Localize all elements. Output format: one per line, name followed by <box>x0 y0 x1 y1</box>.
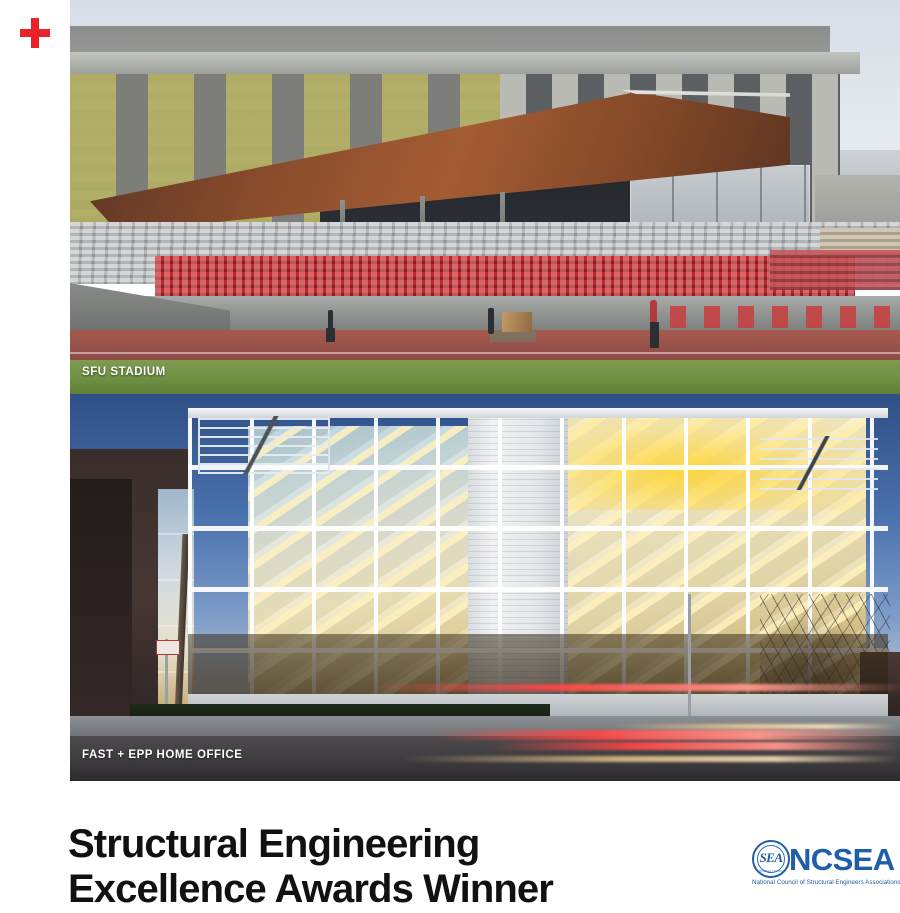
sports-field <box>70 360 900 394</box>
red-stadium-seats-right <box>770 250 900 290</box>
ncsea-logo-row: SEA NATIONAL COUNCIL NCSEA <box>752 840 888 878</box>
ncsea-seal-subtext: NATIONAL COUNCIL <box>754 870 788 873</box>
photo-sfu-stadium: SFU STADIUM <box>70 0 900 394</box>
street-lamp-post <box>688 594 691 719</box>
page-title-line-1: Structural Engineering <box>68 822 708 868</box>
running-track <box>70 330 900 362</box>
page-title: Structural Engineering Excellence Awards… <box>68 822 708 913</box>
runner-legs <box>326 328 335 342</box>
adjacent-brick-building-foreground <box>70 479 132 739</box>
car-light-trail-warm <box>400 756 900 762</box>
plus-icon-vertical-bar <box>31 18 39 48</box>
track-hurdles <box>670 306 900 328</box>
ncsea-logo: SEA NATIONAL COUNCIL NCSEA National Coun… <box>752 840 888 888</box>
ncsea-seal-monogram: SEA <box>754 850 788 866</box>
car-light-trail <box>490 742 900 750</box>
runner-figure-red-shirt <box>650 300 657 324</box>
worker-figure <box>488 308 494 334</box>
rooftop-railing-right <box>760 436 878 490</box>
ncsea-wordmark: NCSEA <box>789 844 895 875</box>
runner-legs-red-shirt <box>650 322 659 348</box>
cart-load <box>502 312 532 332</box>
ncsea-seal-icon: SEA NATIONAL COUNCIL <box>752 840 790 878</box>
page-title-line-2: Excellence Awards Winner <box>68 867 708 913</box>
ncsea-tagline: National Council of Structural Engineers… <box>752 879 888 886</box>
photo-caption-fast-epp-home-office: FAST + EPP HOME OFFICE <box>82 749 242 761</box>
roof-parapet <box>70 52 860 74</box>
car-light-trail <box>430 730 900 740</box>
photo-caption-sfu-stadium: SFU STADIUM <box>82 366 166 378</box>
photo-stack: SFU STADIUM <box>70 0 900 781</box>
red-stadium-seats <box>155 256 855 298</box>
car-light-trail-warm <box>610 724 900 729</box>
car-light-trail <box>370 684 900 691</box>
rooftop-railing-left <box>198 416 330 474</box>
street-sign <box>156 640 180 655</box>
plus-icon <box>20 18 50 48</box>
photo-fast-epp-home-office: FAST + EPP HOME OFFICE <box>70 394 900 781</box>
